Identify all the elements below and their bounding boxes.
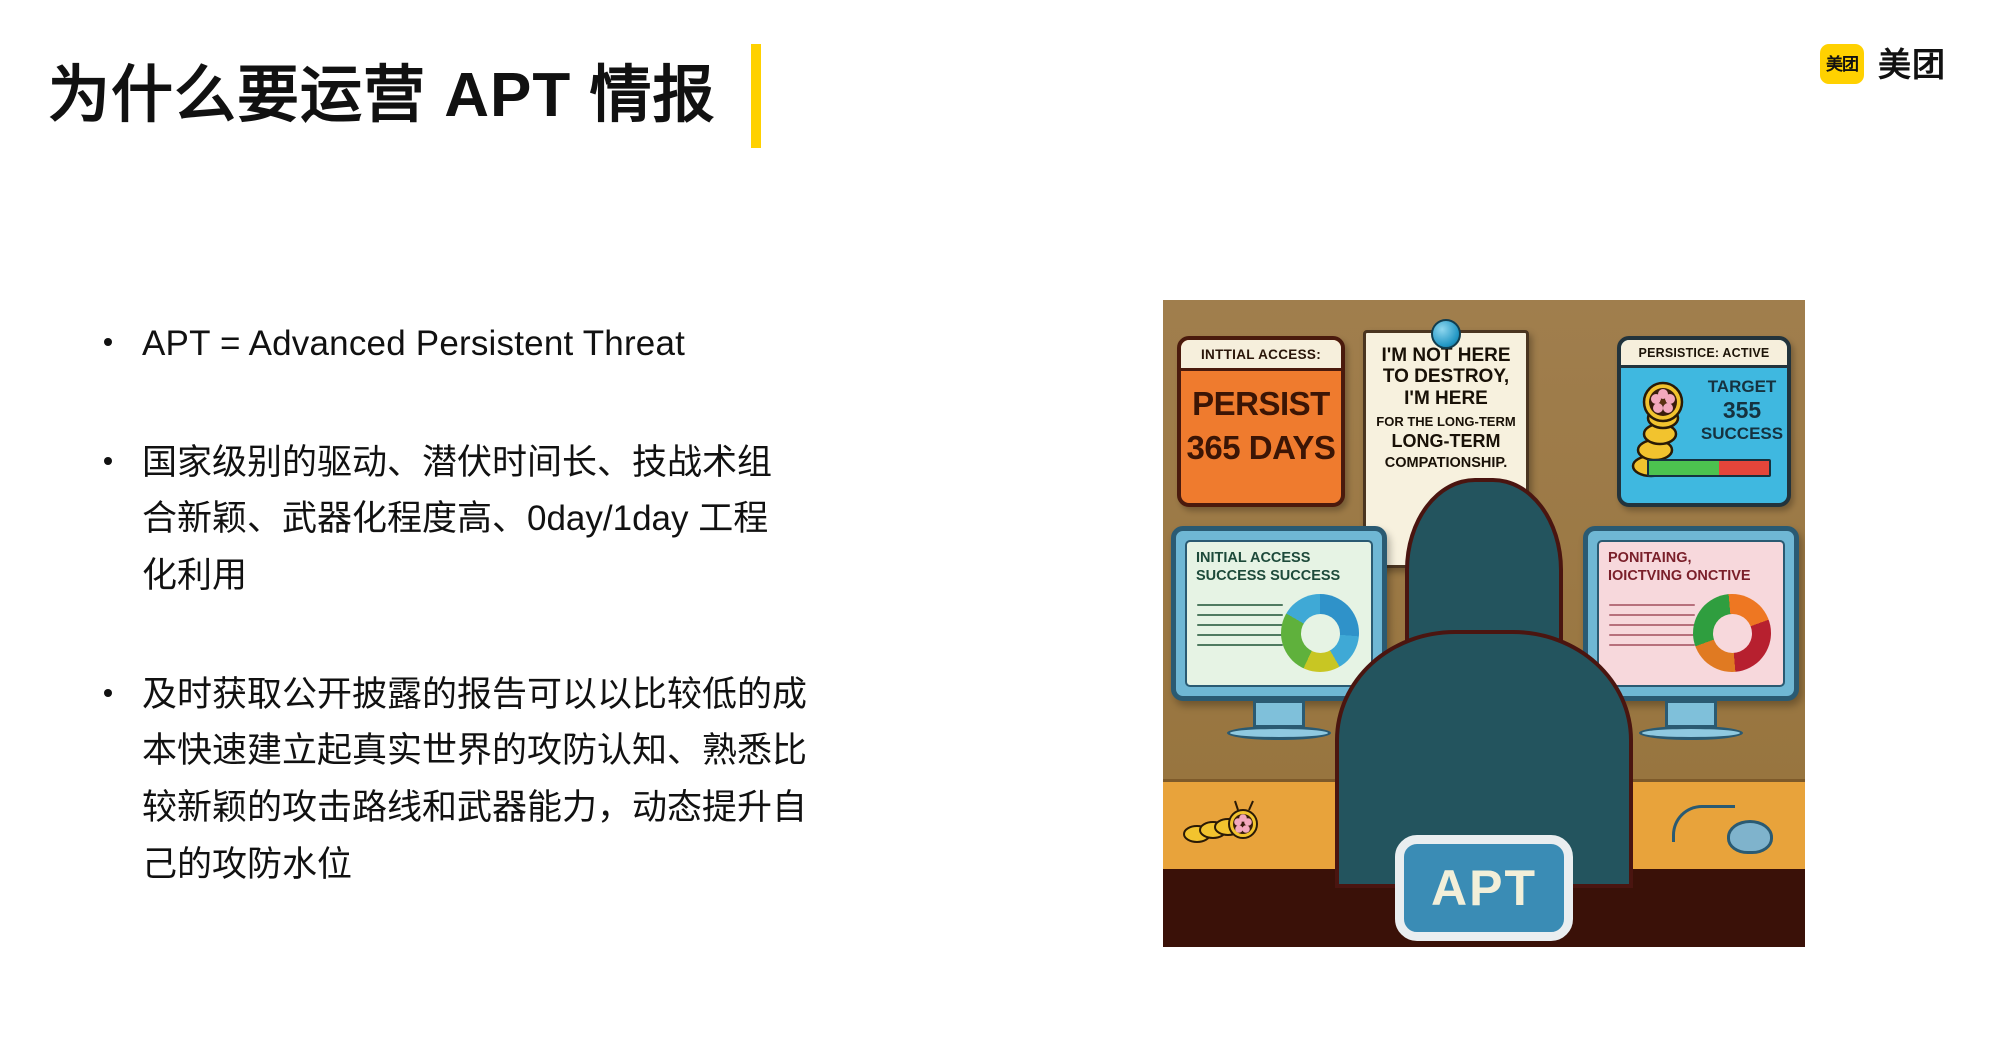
- progress-bar: [1647, 459, 1771, 477]
- pushpin-icon: [1431, 319, 1461, 349]
- monitor-right-screen: PONITAING, IOICTVING ONCTIVE: [1597, 540, 1785, 687]
- poster-orange-line1: PERSIST: [1181, 371, 1341, 424]
- monitor-right: PONITAING, IOICTVING ONCTIVE: [1583, 526, 1799, 701]
- monitor-left-screen: INITIAL ACCESS SUCCESS SUCCESS: [1185, 540, 1373, 687]
- monitor-left-base: [1227, 726, 1331, 740]
- poster-orange-header: INTTIAL ACCESS:: [1181, 340, 1341, 371]
- bullet-dot-icon: [104, 338, 112, 346]
- title-accent-bar: [751, 44, 761, 148]
- note-line-2: I'M HERE: [1372, 388, 1520, 409]
- monitor-right-title-2: IOICTVING ONCTIVE: [1599, 566, 1783, 584]
- poster-orange-line2: 365 DAYS: [1181, 424, 1341, 468]
- poster-blue-text: TARGET 355 SUCCESS: [1697, 377, 1787, 444]
- monitor-right-text-lines: [1609, 604, 1695, 654]
- poster-blue-line1: TARGET: [1697, 377, 1787, 397]
- meituan-badge-icon: 美团: [1820, 44, 1864, 84]
- page-title-row: 为什么要运营 APT 情报: [48, 44, 761, 148]
- chair-label: APT: [1431, 863, 1537, 913]
- bullet-dot-icon: [104, 689, 112, 697]
- monitor-left: INITIAL ACCESS SUCCESS SUCCESS: [1171, 526, 1387, 701]
- brand-wordmark: 美团: [1878, 48, 1946, 81]
- desk-caterpillar-icon: [1183, 800, 1263, 846]
- donut-chart-right: [1693, 594, 1771, 672]
- bullet-text: 国家级别的驱动、潜伏时间长、技战术组合新颖、武器化程度高、0day/1day 工…: [142, 435, 782, 605]
- poster-blue-body: TARGET 355 SUCCESS: [1621, 368, 1787, 488]
- monitor-right-stand: [1665, 700, 1717, 728]
- progress-bar-red-segment: [1719, 461, 1769, 475]
- monitor-right-title-1: PONITAING,: [1599, 542, 1783, 566]
- brand-badge-label: 美团: [1826, 56, 1858, 73]
- computer-mouse-icon: [1727, 820, 1773, 854]
- page-title: 为什么要运营 APT 情报: [48, 63, 715, 128]
- list-item: APT = Advanced Persistent Threat: [104, 316, 984, 373]
- poster-blue-header: PERSISTICE: ACTIVE: [1621, 340, 1787, 368]
- brand-logo: 美团 美团: [1820, 44, 1946, 84]
- monitor-left-title-2: SUCCESS SUCCESS: [1187, 566, 1371, 584]
- progress-bar-green-segment: [1649, 461, 1719, 475]
- bullet-list: APT = Advanced Persistent Threat 国家级别的驱动…: [104, 316, 984, 894]
- bullet-text: APT = Advanced Persistent Threat: [142, 316, 685, 373]
- donut-chart-left: [1281, 594, 1359, 672]
- note-line-3: FOR THE LONG-TERM: [1372, 415, 1520, 430]
- list-item: 及时获取公开披露的报告可以以比较低的成本快速建立起真实世界的攻防认知、熟悉比较新…: [104, 667, 984, 894]
- poster-blue-line2: 355: [1697, 397, 1787, 424]
- note-line-5: COMPATIONSHIP.: [1372, 455, 1520, 471]
- bullet-text: 及时获取公开披露的报告可以以比较低的成本快速建立起真实世界的攻防认知、熟悉比较新…: [142, 667, 814, 894]
- chair-back-apt-label: APT: [1395, 835, 1573, 941]
- bullet-dot-icon: [104, 457, 112, 465]
- note-line-1: I'M NOT HERE TO DESTROY,: [1372, 345, 1520, 388]
- list-item: 国家级别的驱动、潜伏时间长、技战术组合新颖、武器化程度高、0day/1day 工…: [104, 435, 984, 605]
- monitor-left-stand: [1253, 700, 1305, 728]
- monitor-left-title-1: INITIAL ACCESS: [1187, 542, 1371, 566]
- monitor-left-text-lines: [1197, 604, 1283, 654]
- poster-blue-line3: SUCCESS: [1697, 424, 1787, 444]
- monitor-right-base: [1639, 726, 1743, 740]
- apt-hacker-workstation-illustration: INTTIAL ACCESS: PERSIST 365 DAYS I'M NOT…: [1163, 300, 1805, 947]
- note-line-4: LONG-TERM: [1372, 431, 1520, 451]
- poster-persistence: PERSISTICE: ACTIVE TARGET 355 SUCCES: [1617, 336, 1791, 507]
- poster-initial-access: INTTIAL ACCESS: PERSIST 365 DAYS: [1177, 336, 1345, 507]
